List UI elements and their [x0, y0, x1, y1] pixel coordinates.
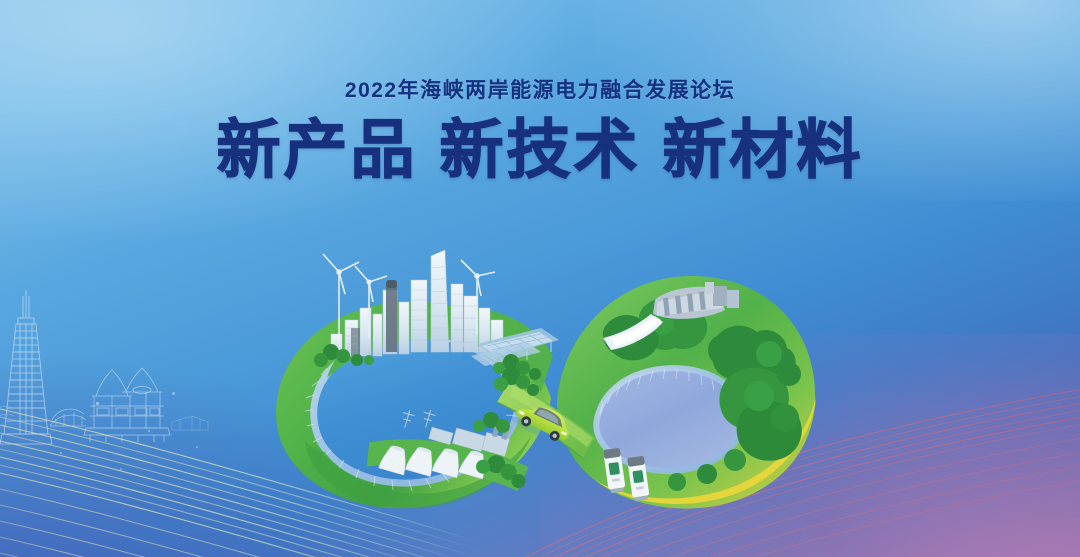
- title-word-new-technology: 新技术: [440, 114, 641, 186]
- poster-canvas: 2022年海峡两岸能源电力融合发展论坛 新产品新技术新材料: [0, 0, 1080, 557]
- right-lobe: [557, 276, 815, 509]
- forum-subtitle: 2022年海峡两岸能源电力融合发展论坛: [0, 78, 1080, 103]
- title-word-new-product: 新产品: [217, 114, 418, 186]
- headline-block: 2022年海峡两岸能源电力融合发展论坛 新产品新技术新材料: [0, 78, 1080, 185]
- page-title: 新产品新技术新材料: [0, 117, 1080, 185]
- title-word-new-material: 新材料: [663, 114, 864, 186]
- infinity-loop-landscape: [265, 228, 825, 528]
